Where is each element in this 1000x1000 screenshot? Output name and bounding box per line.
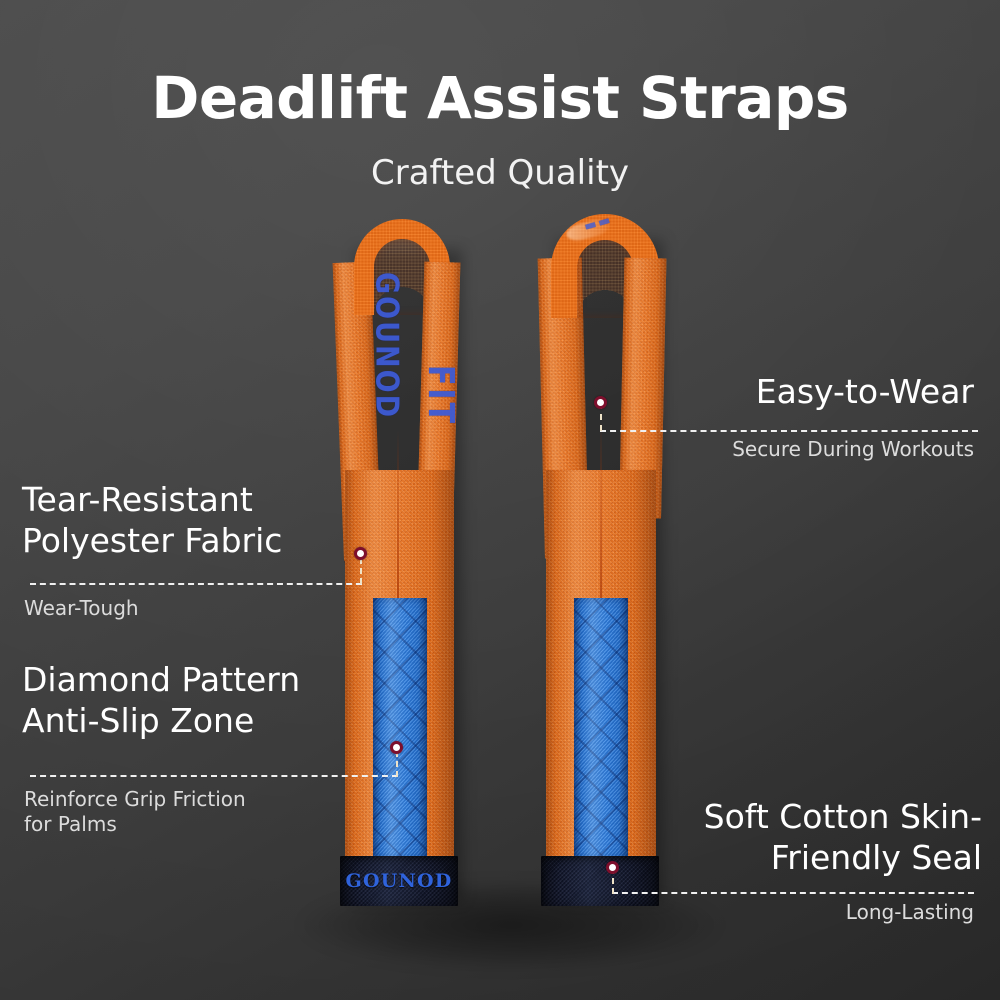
annotation-anti-slip-heading-line1: Diamond Pattern: [22, 660, 522, 701]
annotation-anti-slip-subtext-line1: Reinforce Grip Friction: [24, 787, 524, 812]
annotation-anti-slip-subtext-wrap: Reinforce Grip Friction for Palms: [24, 787, 524, 837]
annotation-tear-resistant-subtext-wrap: Wear-Tough: [24, 596, 504, 621]
annotation-anti-slip-heading-line2: Anti-Slip Zone: [22, 701, 522, 742]
annotation-anti-slip-subtext-line2: for Palms: [24, 812, 524, 837]
annotation-cotton-seal: Soft Cotton Skin- Friendly Seal: [462, 797, 982, 879]
annotation-easy-to-wear: Easy-to-Wear: [454, 372, 974, 413]
infographic-canvas: Deadlift Assist Straps Crafted Quality: [0, 0, 1000, 1000]
annotation-cotton-seal-heading-line2: Friendly Seal: [462, 838, 982, 879]
annotation-easy-to-wear-heading: Easy-to-Wear: [454, 372, 974, 413]
annotation-easy-to-wear-marker: [594, 396, 607, 409]
annotation-tear-resistant-rule-vertical: [360, 558, 362, 584]
annotation-tear-resistant-subtext: Wear-Tough: [24, 596, 504, 621]
annotation-anti-slip-rule: [30, 775, 398, 777]
annotation-tear-resistant-heading-line1: Tear-Resistant: [22, 480, 502, 521]
annotation-anti-slip-rule-vertical: [396, 751, 398, 777]
annotation-cotton-seal-rule: [612, 892, 974, 894]
annotation-cotton-seal-subtext-wrap: Long-Lasting: [454, 900, 974, 925]
annotation-tear-resistant-heading-line2: Polyester Fabric: [22, 521, 502, 562]
annotation-anti-slip: Diamond Pattern Anti-Slip Zone: [22, 660, 522, 742]
annotation-easy-to-wear-subtext-wrap: Secure During Workouts: [454, 437, 974, 462]
annotation-cotton-seal-marker: [606, 861, 619, 874]
annotation-easy-to-wear-subtext: Secure During Workouts: [454, 437, 974, 462]
annotation-cotton-seal-subtext: Long-Lasting: [454, 900, 974, 925]
annotation-cotton-seal-heading-line1: Soft Cotton Skin-: [462, 797, 982, 838]
annotation-anti-slip-marker: [390, 741, 403, 754]
annotation-tear-resistant: Tear-Resistant Polyester Fabric: [22, 480, 502, 562]
annotation-tear-resistant-marker: [354, 547, 367, 560]
annotation-tear-resistant-rule: [30, 583, 362, 585]
annotation-easy-to-wear-rule: [600, 430, 978, 432]
